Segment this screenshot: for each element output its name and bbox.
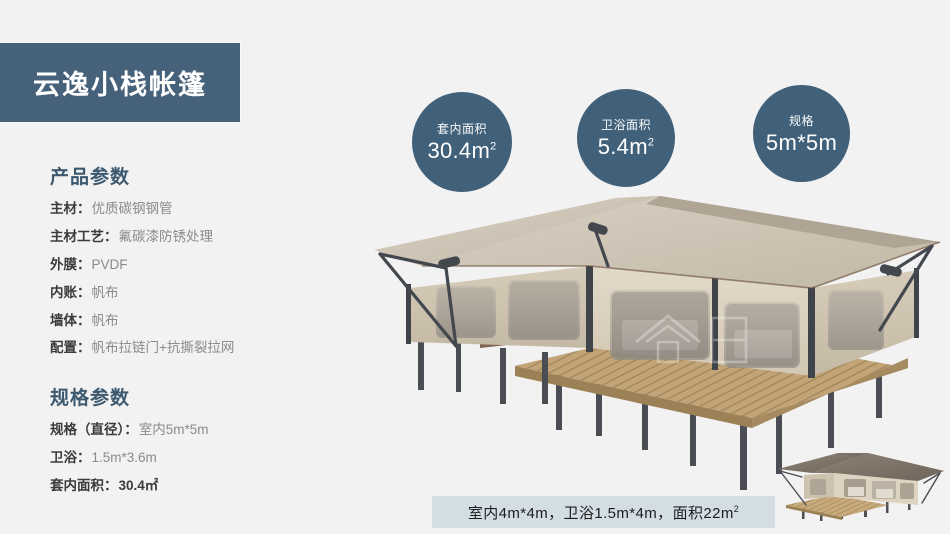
- spec-value: 室内5m*5m: [139, 422, 209, 439]
- spec-value: 帆布拉链门+抗撕裂拉网: [92, 340, 235, 357]
- badge-caption: 规格: [789, 112, 814, 129]
- spec-label: 墙体：: [50, 313, 91, 330]
- spec-row: 主材工艺： 氟碳漆防锈处理: [50, 229, 350, 246]
- specification-column: 产品参数 主材： 优质碳钢钢管 主材工艺： 氟碳漆防锈处理 外膜： PVDF 内…: [50, 162, 350, 506]
- spec-label: 内账：: [50, 285, 91, 302]
- spec-value: 30.4㎡: [119, 478, 159, 495]
- spec-label: 主材工艺：: [50, 229, 118, 246]
- spec-value: 帆布: [92, 313, 119, 330]
- spec-value: 优质碳钢钢管: [92, 201, 173, 218]
- badge-value: 5.4m2: [598, 134, 655, 160]
- spec-label: 套内面积：: [50, 478, 118, 495]
- image-caption-bar: 室内4m*4m，卫浴1.5m*4m，面积22m2: [432, 496, 775, 528]
- spec-row: 墙体： 帆布: [50, 313, 350, 330]
- tent-thumb-render: [772, 443, 950, 525]
- spec-row: 外膜： PVDF: [50, 257, 350, 274]
- spec-value: 1.5m*3.6m: [92, 450, 157, 467]
- caption-text: 室内4m*4m，卫浴1.5m*4m，面积22m2: [468, 502, 739, 523]
- spec-label: 主材：: [50, 201, 91, 218]
- spec-row: 内账： 帆布: [50, 285, 350, 302]
- badge-value: 5m*5m: [766, 130, 837, 156]
- spec-params-heading: 规格参数: [50, 383, 350, 410]
- spec-value: 氟碳漆防锈处理: [119, 229, 214, 246]
- product-params-heading: 产品参数: [50, 162, 350, 189]
- spec-row: 规格（直径）： 室内5m*5m: [50, 422, 350, 439]
- spec-row: 卫浴： 1.5m*3.6m: [50, 450, 350, 467]
- spec-label: 卫浴：: [50, 450, 91, 467]
- spec-row: 套内面积： 30.4㎡: [50, 478, 350, 495]
- spec-value: PVDF: [92, 257, 128, 274]
- product-spec-page: 云逸小栈帐篷 产品参数 主材： 优质碳钢钢管 主材工艺： 氟碳漆防锈处理 外膜：…: [0, 0, 950, 534]
- spec-label: 外膜：: [50, 257, 91, 274]
- badge-dimensions: 规格 5m*5m: [753, 85, 850, 182]
- spec-label: 规格（直径）：: [50, 422, 138, 439]
- product-title: 云逸小栈帐篷: [33, 63, 207, 102]
- badge-caption: 套内面积: [437, 120, 487, 137]
- tent-thumbnail: [772, 443, 950, 525]
- badge-value: 30.4m2: [427, 138, 496, 164]
- spec-value: 帆布: [92, 285, 119, 302]
- badge-caption: 卫浴面积: [601, 116, 651, 133]
- spec-row: 配置： 帆布拉链门+抗撕裂拉网: [50, 340, 350, 357]
- spec-label: 配置：: [50, 340, 91, 357]
- spec-row: 主材： 优质碳钢钢管: [50, 201, 350, 218]
- title-banner: 云逸小栈帐篷: [0, 43, 240, 122]
